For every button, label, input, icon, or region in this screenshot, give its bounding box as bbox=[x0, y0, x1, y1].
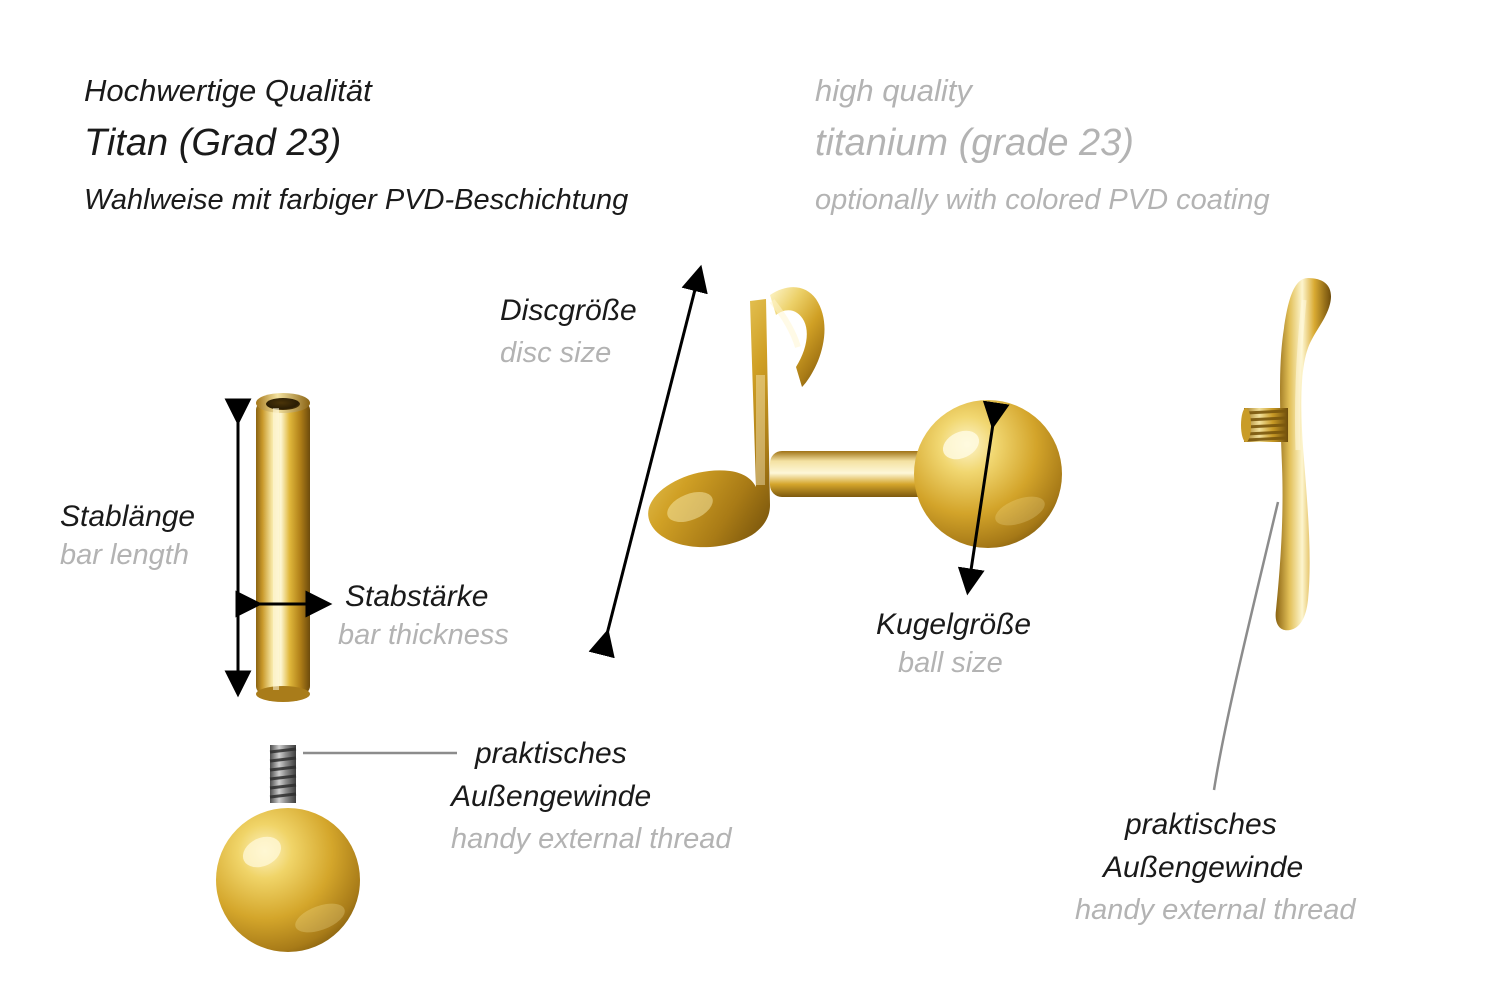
bar-illustration bbox=[255, 392, 311, 702]
headline-en-line3: optionally with colored PVD coating bbox=[815, 182, 1270, 218]
threaded-ball-illustration bbox=[200, 740, 380, 955]
label-thread-right-en: handy external thread bbox=[1075, 892, 1356, 928]
headline-de-line2: Titan (Grad 23) bbox=[84, 120, 341, 168]
headline-de-line3: Wahlweise mit farbiger PVD-Beschichtung bbox=[84, 182, 628, 218]
headline-en-line2: titanium (grade 23) bbox=[815, 120, 1134, 168]
music-note-icon bbox=[648, 287, 824, 547]
diagram-page: Hochwertige Qualität Titan (Grad 23) Wah… bbox=[0, 0, 1500, 1001]
label-bar-length-de: Stablänge bbox=[60, 498, 195, 536]
label-disc-size-en: disc size bbox=[500, 335, 611, 371]
label-thread-left-de-line2: Außengewinde bbox=[451, 778, 651, 816]
external-thread-icon bbox=[270, 745, 296, 803]
label-disc-size-de: Discgröße bbox=[500, 292, 637, 330]
label-thread-left-de-line1: praktisches bbox=[475, 735, 627, 773]
label-thread-left-en: handy external thread bbox=[451, 821, 732, 857]
label-thread-right-de-line1: praktisches bbox=[1125, 806, 1277, 844]
label-bar-thickness-en: bar thickness bbox=[338, 617, 509, 653]
label-bar-length-en: bar length bbox=[60, 537, 189, 573]
label-thread-right-de-line2: Außengewinde bbox=[1103, 849, 1303, 887]
label-bar-thickness-de: Stabstärke bbox=[345, 578, 488, 616]
external-thread-icon bbox=[1241, 408, 1288, 442]
headline-en-line1: high quality bbox=[815, 72, 972, 111]
side-view-disc-illustration bbox=[1230, 270, 1360, 640]
headline-de-line1: Hochwertige Qualität bbox=[84, 72, 372, 111]
music-note-labret-illustration bbox=[620, 255, 1070, 655]
